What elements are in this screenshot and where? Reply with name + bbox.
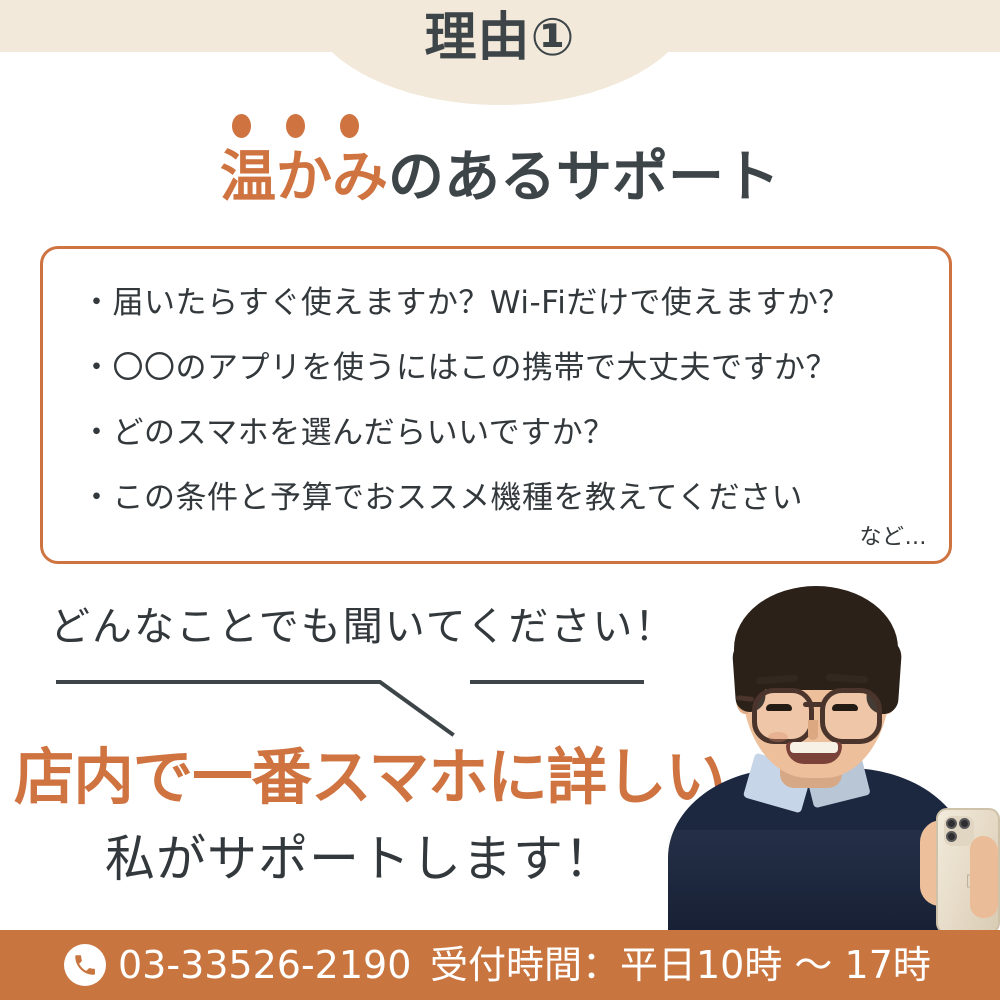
ask-anything-text: どんなことでも聞いてください！: [50, 600, 670, 654]
smiling-mouth: [786, 742, 842, 764]
question-box: ・届いたらすぐ使えますか？Wi-Fiだけで使えますか？ ・〇〇のアプリを使うには…: [40, 246, 952, 564]
emphasis-dots: [232, 114, 372, 140]
speech-bubble-tail: [40, 660, 680, 740]
cheek: [768, 732, 788, 742]
question-box-etc: など…: [859, 519, 927, 551]
headline-rest: のあるサポート: [388, 145, 780, 210]
camera-module: [944, 816, 974, 846]
eye-right: [832, 704, 858, 711]
list-item: ・どのスマホを選んだらいいですか？: [81, 401, 931, 466]
question-list: ・届いたらすぐ使えますか？Wi-Fiだけで使えますか？ ・〇〇のアプリを使うには…: [81, 271, 931, 531]
staff-photo: : [640, 580, 1000, 936]
camera-lens: [946, 818, 957, 829]
emphasis-dot: [340, 114, 359, 138]
list-item: ・この条件と予算でおススメ機種を教えてください: [81, 466, 931, 531]
business-hours: 受付時間：平日10時 〜 17時: [430, 944, 931, 986]
fingers: [970, 836, 998, 918]
teeth: [790, 742, 838, 753]
glasses-bridge: [803, 702, 823, 707]
phone-number[interactable]: 03-33526-2190: [118, 944, 411, 986]
contact-bar: 03-33526-2190 受付時間：平日10時 〜 17時: [0, 930, 1000, 1000]
big-orange-headline: 店内で一番スマホに詳しい: [14, 742, 737, 814]
phone-icon: [64, 944, 106, 986]
emphasis-dot: [232, 114, 251, 138]
support-subheadline: 私がサポートします！: [0, 828, 720, 890]
page-title: 理由①: [0, 8, 1000, 68]
eye-left: [766, 704, 792, 711]
list-item: ・〇〇のアプリを使うにはこの携帯で大丈夫ですか？: [81, 336, 931, 401]
emphasis-dot: [286, 114, 305, 138]
headline-highlight: 温かみ: [220, 145, 388, 210]
poster-root: 理由① 温かみのあるサポート ・届いたらすぐ使えますか？Wi-Fiだけで使えます…: [0, 0, 1000, 1000]
nose: [808, 720, 818, 740]
list-item: ・届いたらすぐ使えますか？Wi-Fiだけで使えますか？: [81, 271, 931, 336]
camera-lens: [946, 831, 957, 842]
camera-lens: [959, 818, 970, 829]
section-headline: 温かみのあるサポート: [0, 145, 1000, 211]
glasses-lens-right: [820, 688, 882, 744]
